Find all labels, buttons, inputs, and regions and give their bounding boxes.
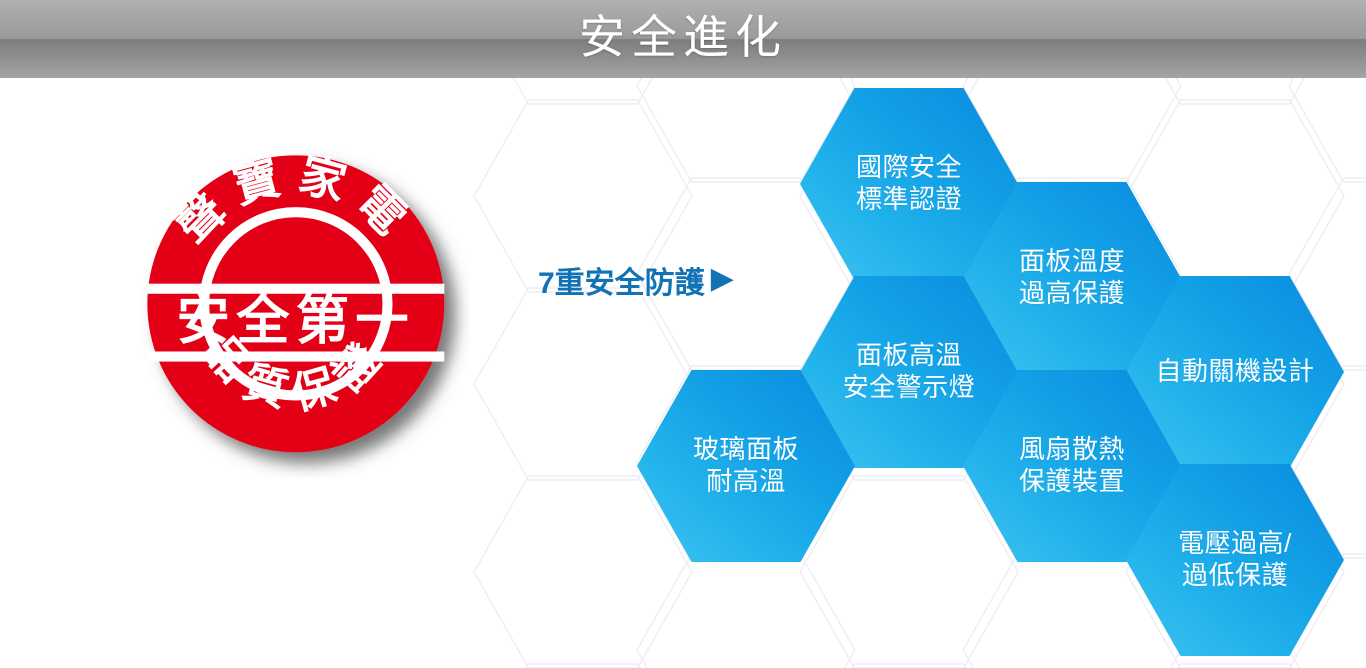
hex-label: 玻璃面板 耐高溫: [693, 434, 799, 497]
hex-label: 面板溫度 過高保護: [1019, 246, 1125, 309]
page-banner: 安全進化: [0, 0, 1366, 78]
seal-center-text: 安全第一: [177, 291, 415, 351]
background-hex-outline: [637, 554, 855, 668]
hex-label: 風扇散熱 保護裝置: [1019, 434, 1125, 497]
background-hex-outline: [1289, 78, 1366, 182]
background-hex-outline: [474, 664, 692, 668]
hex-label: 自動關機設計: [1155, 356, 1314, 388]
background-hex-outline: [800, 664, 1018, 668]
hex-label: 面板高溫 安全警示燈: [843, 340, 976, 403]
seal-band-bottom-rule: [147, 352, 444, 362]
background-hex-outline: [474, 78, 692, 104]
seal-graphic: 聲寶家電 品質保證 安全第一: [140, 148, 470, 478]
infographic-canvas: 安全進化 聲寶家電 品質保證: [0, 0, 1366, 668]
hex-label: 國際安全 標準認證: [856, 152, 962, 215]
seal-badge: 聲寶家電 品質保證 安全第一: [140, 148, 500, 518]
page-title: 安全進化: [579, 14, 787, 60]
triangle-right-icon: ▶: [711, 264, 734, 294]
callout-text: 7重安全防護: [538, 258, 705, 302]
background-hex-outline: [1126, 664, 1344, 668]
background-hex-outline: [1126, 78, 1344, 104]
seven-layer-protection-callout: 7重安全防護 ▶: [538, 258, 734, 302]
hex-label: 電壓過高/ 過低保護: [1178, 528, 1292, 591]
